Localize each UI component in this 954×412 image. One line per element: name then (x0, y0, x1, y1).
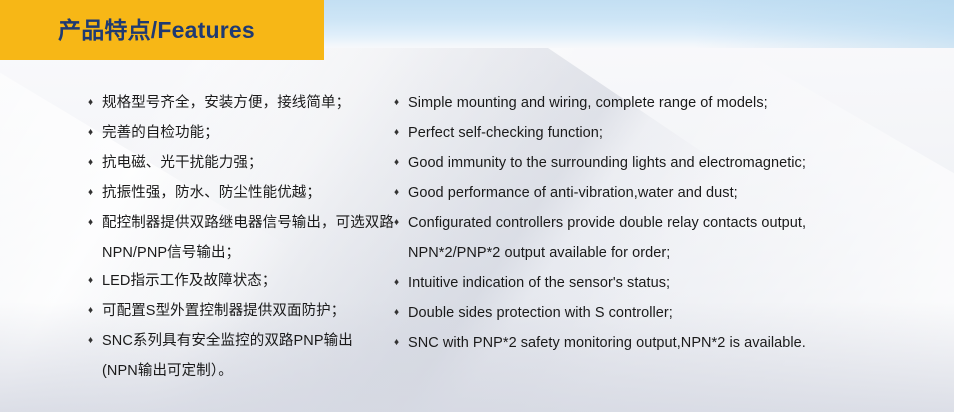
feature-en-item: ♦SNC with PNP*2 safety monitoring output… (394, 332, 954, 354)
feature-zh-line: ♦规格型号齐全，安装方便，接线简单； (88, 92, 394, 114)
feature-en-item: ♦Perfect self-checking function; (394, 122, 954, 144)
feature-zh-item: ♦配控制器提供双路继电器信号输出，可选双路NPN/PNP信号输出； (88, 212, 394, 264)
feature-en-line-continued: NPN*2/PNP*2 output available for order; (394, 242, 954, 264)
feature-en-item: ♦Configurated controllers provide double… (394, 212, 954, 264)
feature-en-item: ♦Good immunity to the surrounding lights… (394, 152, 954, 174)
features-page: 产品特点/Features ♦规格型号齐全，安装方便，接线简单；♦完善的自检功能… (0, 0, 954, 412)
diamond-bullet-icon: ♦ (88, 212, 102, 234)
feature-zh-text: 完善的自检功能； (102, 122, 394, 144)
diamond-bullet-icon: ♦ (88, 152, 102, 174)
diamond-bullet-icon: ♦ (394, 92, 408, 114)
feature-en-text: Intuitive indication of the sensor's sta… (408, 272, 954, 294)
feature-zh-item: ♦抗电磁、光干扰能力强； (88, 152, 394, 174)
diamond-bullet-icon: ♦ (88, 122, 102, 144)
feature-en-text: Simple mounting and wiring, complete ran… (408, 92, 954, 114)
feature-en-text: Good immunity to the surrounding lights … (408, 152, 954, 174)
diamond-bullet-icon: ♦ (394, 212, 408, 234)
diamond-bullet-icon: ♦ (88, 330, 102, 352)
features-column-english: ♦Simple mounting and wiring, complete ra… (394, 92, 954, 388)
page-title: 产品特点/Features (0, 19, 255, 42)
feature-zh-line: ♦抗电磁、光干扰能力强； (88, 152, 394, 174)
diamond-bullet-icon: ♦ (394, 302, 408, 324)
features-column-chinese: ♦规格型号齐全，安装方便，接线简单；♦完善的自检功能；♦抗电磁、光干扰能力强；♦… (0, 92, 394, 388)
feature-en-line: ♦SNC with PNP*2 safety monitoring output… (394, 332, 954, 354)
feature-zh-item: ♦完善的自检功能； (88, 122, 394, 144)
diamond-bullet-icon: ♦ (394, 272, 408, 294)
feature-en-item: ♦Double sides protection with S controll… (394, 302, 954, 324)
feature-en-text: Good performance of anti-vibration,water… (408, 182, 954, 204)
feature-en-line: ♦Configurated controllers provide double… (394, 212, 954, 234)
feature-zh-item: ♦LED指示工作及故障状态； (88, 270, 394, 292)
diamond-bullet-icon: ♦ (394, 182, 408, 204)
diamond-bullet-icon: ♦ (394, 122, 408, 144)
feature-en-text: NPN*2/PNP*2 output available for order; (408, 242, 954, 264)
feature-zh-line: ♦可配置S型外置控制器提供双面防护； (88, 300, 394, 322)
feature-zh-line: ♦SNC系列具有安全监控的双路PNP输出 (88, 330, 394, 352)
feature-zh-line: ♦配控制器提供双路继电器信号输出，可选双路 (88, 212, 394, 234)
diamond-bullet-icon: ♦ (88, 270, 102, 292)
features-columns: ♦规格型号齐全，安装方便，接线简单；♦完善的自检功能；♦抗电磁、光干扰能力强；♦… (0, 92, 954, 388)
diamond-bullet-icon: ♦ (394, 332, 408, 354)
diamond-bullet-icon: ♦ (88, 92, 102, 114)
feature-zh-line: ♦完善的自检功能； (88, 122, 394, 144)
feature-en-item: ♦Simple mounting and wiring, complete ra… (394, 92, 954, 114)
feature-zh-item: ♦抗振性强，防水、防尘性能优越； (88, 182, 394, 204)
diamond-bullet-icon: ♦ (88, 300, 102, 322)
feature-en-line: ♦Intuitive indication of the sensor's st… (394, 272, 954, 294)
feature-zh-text: NPN/PNP信号输出； (102, 242, 394, 264)
feature-zh-line-continued: (NPN输出可定制）。 (88, 360, 394, 382)
feature-zh-text: 抗电磁、光干扰能力强； (102, 152, 394, 174)
feature-en-text: Perfect self-checking function; (408, 122, 954, 144)
feature-en-line: ♦Simple mounting and wiring, complete ra… (394, 92, 954, 114)
feature-zh-text: (NPN输出可定制）。 (102, 360, 394, 382)
feature-zh-text: 抗振性强，防水、防尘性能优越； (102, 182, 394, 204)
header-tab: 产品特点/Features (0, 0, 324, 60)
diamond-bullet-icon: ♦ (394, 152, 408, 174)
feature-en-item: ♦Intuitive indication of the sensor's st… (394, 272, 954, 294)
feature-zh-item: ♦可配置S型外置控制器提供双面防护； (88, 300, 394, 322)
feature-en-line: ♦Good performance of anti-vibration,wate… (394, 182, 954, 204)
feature-en-item: ♦Good performance of anti-vibration,wate… (394, 182, 954, 204)
feature-zh-text: 规格型号齐全，安装方便，接线简单； (102, 92, 394, 114)
feature-zh-line: ♦抗振性强，防水、防尘性能优越； (88, 182, 394, 204)
feature-zh-item: ♦SNC系列具有安全监控的双路PNP输出(NPN输出可定制）。 (88, 330, 394, 382)
feature-zh-text: SNC系列具有安全监控的双路PNP输出 (102, 330, 394, 352)
feature-en-text: Double sides protection with S controlle… (408, 302, 954, 324)
feature-zh-line: ♦LED指示工作及故障状态； (88, 270, 394, 292)
feature-en-text: SNC with PNP*2 safety monitoring output,… (408, 332, 954, 354)
diamond-bullet-icon: ♦ (88, 182, 102, 204)
feature-zh-line-continued: NPN/PNP信号输出； (88, 242, 394, 264)
feature-zh-item: ♦规格型号齐全，安装方便，接线简单； (88, 92, 394, 114)
feature-zh-text: 可配置S型外置控制器提供双面防护； (102, 300, 394, 322)
feature-zh-text: 配控制器提供双路继电器信号输出，可选双路 (102, 212, 394, 234)
feature-en-text: Configurated controllers provide double … (408, 212, 954, 234)
feature-en-line: ♦Good immunity to the surrounding lights… (394, 152, 954, 174)
feature-zh-text: LED指示工作及故障状态； (102, 270, 394, 292)
feature-en-line: ♦Double sides protection with S controll… (394, 302, 954, 324)
feature-en-line: ♦Perfect self-checking function; (394, 122, 954, 144)
